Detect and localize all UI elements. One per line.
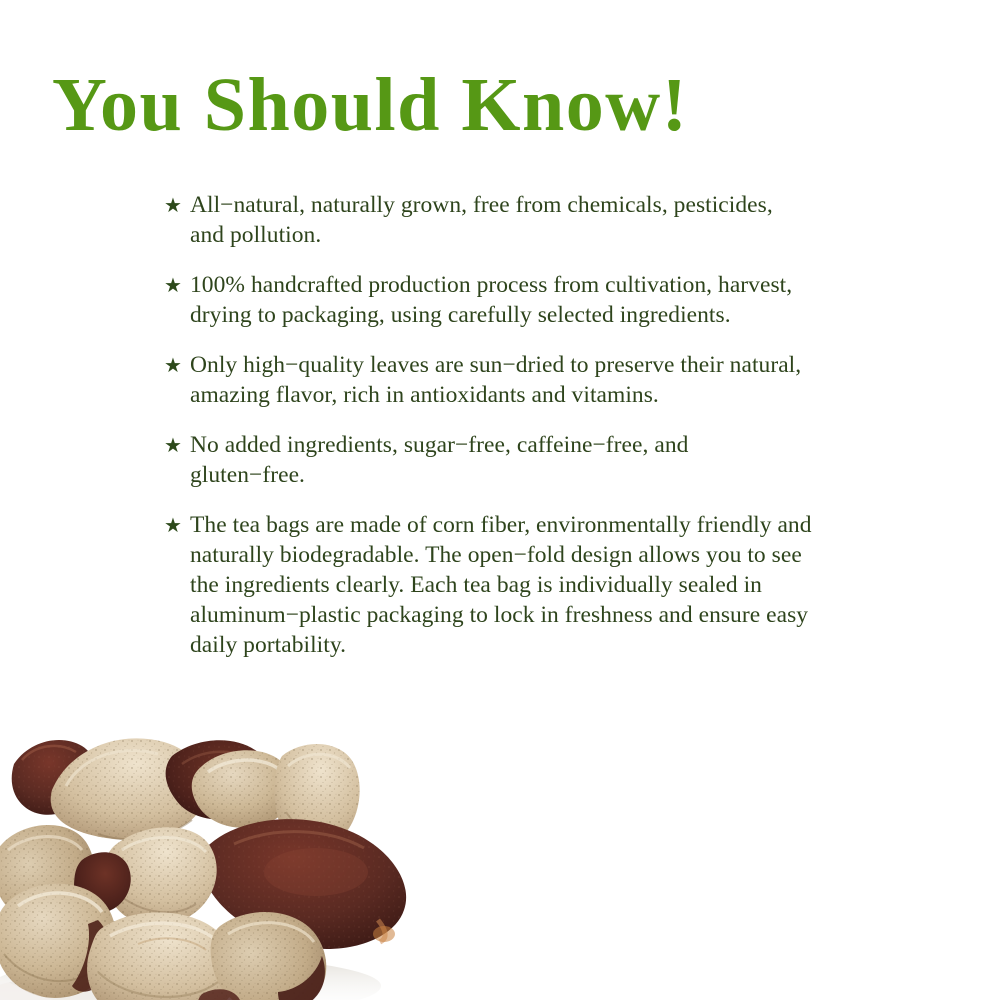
- feature-bullet-list: ★ All−natural, naturally grown, free fro…: [164, 190, 864, 660]
- list-item: ★ Only high−quality leaves are sun−dried…: [164, 350, 864, 410]
- star-bullet-icon: ★: [164, 271, 186, 301]
- page-title: You Should Know!: [52, 64, 689, 146]
- list-item: ★ All−natural, naturally grown, free fro…: [164, 190, 864, 250]
- list-item-text: The tea bags are made of corn fiber, env…: [190, 510, 835, 660]
- star-bullet-icon: ★: [164, 351, 186, 381]
- product-photo-dried-citrus-peel: [0, 694, 438, 1000]
- list-item-text: All−natural, naturally grown, free from …: [190, 190, 780, 250]
- list-item-text: Only high−quality leaves are sun−dried t…: [190, 350, 862, 410]
- star-bullet-icon: ★: [164, 191, 186, 221]
- list-item-text: No added ingredients, sugar−free, caffei…: [190, 430, 790, 490]
- list-item: ★ 100% handcrafted production process fr…: [164, 270, 864, 330]
- list-item-text: 100% handcrafted production process from…: [190, 270, 815, 330]
- dried-peel-illustration: [0, 694, 438, 1000]
- star-bullet-icon: ★: [164, 431, 186, 461]
- list-item: ★ The tea bags are made of corn fiber, e…: [164, 510, 864, 660]
- star-bullet-icon: ★: [164, 511, 186, 541]
- list-item: ★ No added ingredients, sugar−free, caff…: [164, 430, 864, 490]
- poster-canvas: You Should Know! ★ All−natural, naturall…: [0, 0, 1000, 1000]
